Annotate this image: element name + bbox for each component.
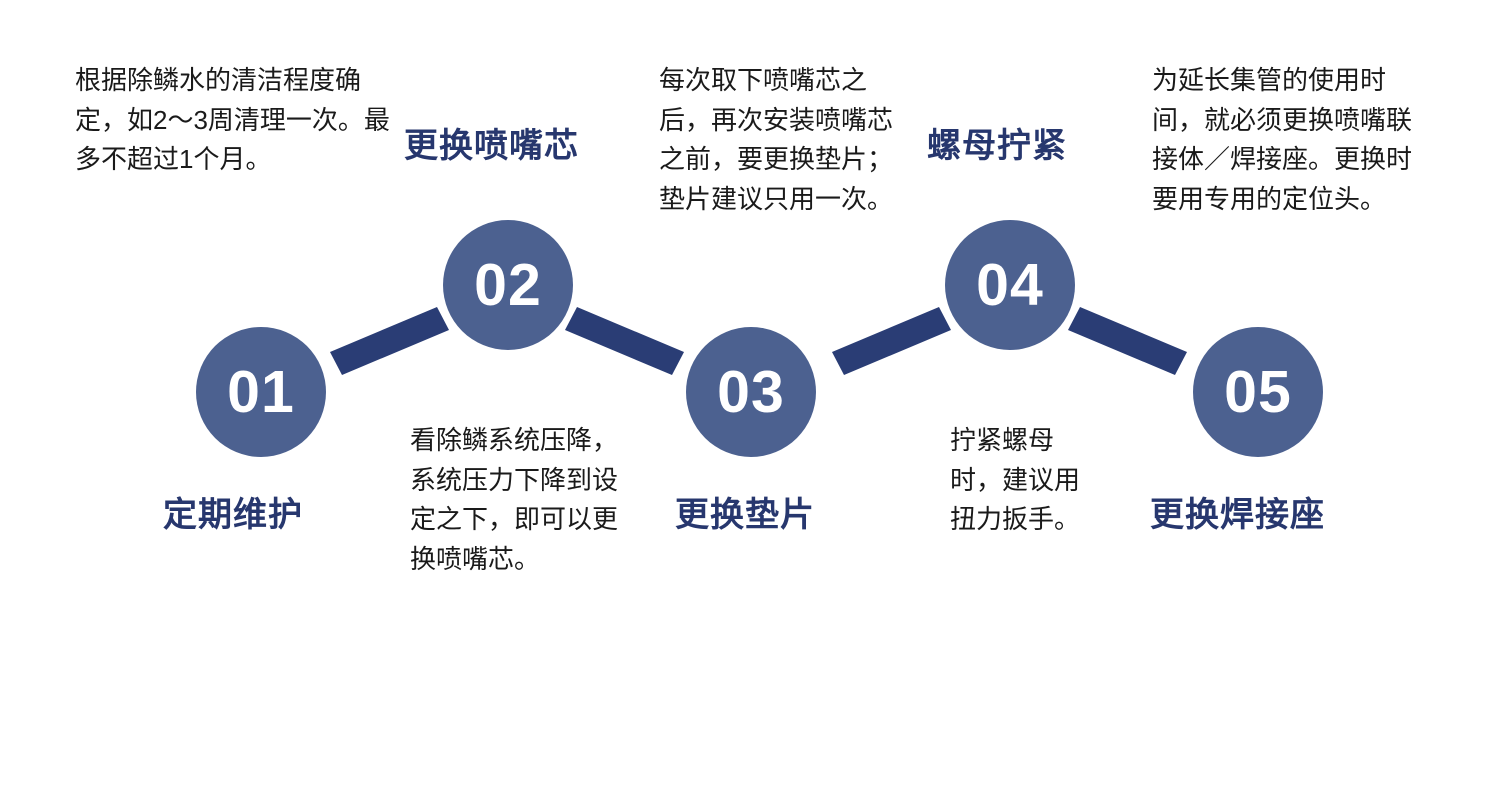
step-title-03: 更换垫片: [675, 497, 815, 534]
step-circle-02[interactable]: 02: [443, 220, 573, 350]
step-circle-05[interactable]: 05: [1193, 327, 1323, 457]
connector-bar-01-02: [330, 307, 449, 375]
step-number-05: 05: [1224, 363, 1292, 422]
step-number-04: 04: [976, 256, 1044, 315]
step-description-01: 根据除鳞水的清洁程度确定，如2～3周清理一次。最多不超过1个月。: [75, 61, 391, 180]
step-number-03: 03: [717, 363, 785, 422]
step-title-02: 更换喷嘴芯: [404, 128, 579, 165]
step-description-04: 拧紧螺母时，建议用扭力扳手。: [950, 421, 1086, 540]
step-title-05: 更换焊接座: [1150, 497, 1325, 534]
step-description-02: 看除鳞系统压降，系统压力下降到设定之下，即可以更换喷嘴芯。: [410, 421, 622, 579]
step-number-02: 02: [474, 256, 542, 315]
step-description-05: 为延长集管的使用时间，就必须更换喷嘴联接体／焊接座。更换时要用专用的定位头。: [1152, 61, 1434, 219]
connector-bar-03-04: [832, 307, 951, 375]
step-circle-04[interactable]: 04: [945, 220, 1075, 350]
connector-bar-04-05: [1068, 307, 1187, 375]
step-circle-03[interactable]: 03: [686, 327, 816, 457]
connector-bar-02-03: [565, 307, 684, 375]
step-title-01: 定期维护: [163, 497, 303, 534]
step-title-04: 螺母拧紧: [927, 128, 1067, 165]
step-circle-01[interactable]: 01: [196, 327, 326, 457]
infographic-canvas: 01 定期维护 根据除鳞水的清洁程度确定，如2～3周清理一次。最多不超过1个月。…: [0, 0, 1501, 807]
step-description-03: 每次取下喷嘴芯之后，再次安装喷嘴芯之前，要更换垫片；垫片建议只用一次。: [659, 61, 909, 219]
step-number-01: 01: [227, 363, 295, 422]
